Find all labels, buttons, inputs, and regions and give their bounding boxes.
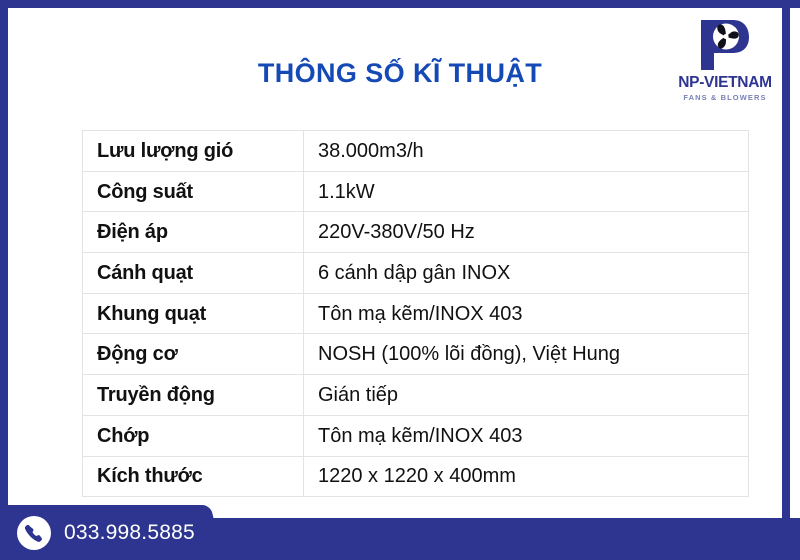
brand-name: NP-VIETNAM [673,75,777,91]
table-row: Khung quạt Tôn mạ kẽm/INOX 403 [83,293,749,334]
brand-logo: NP-VIETNAM FANS & BLOWERS [673,18,777,106]
spec-value: 220V-380V/50 Hz [304,212,749,253]
fan-in-p-letter-icon [699,18,751,72]
frame-border-top [0,0,800,8]
spec-label: Công suất [83,171,304,212]
table-row: Công suất 1.1kW [83,171,749,212]
contact-phone-bar[interactable]: 033.998.5885 [0,505,212,560]
spec-value: Gián tiếp [304,375,749,416]
spec-value: 1220 x 1220 x 400mm [304,456,749,497]
table-row: Truyền động Gián tiếp [83,375,749,416]
spec-value: NOSH (100% lõi đồng), Việt Hung [304,334,749,375]
spec-label: Chớp [83,415,304,456]
phone-handset-icon [17,516,51,550]
table-row: Động cơ NOSH (100% lõi đồng), Việt Hung [83,334,749,375]
spec-value: 6 cánh dập gân INOX [304,253,749,294]
spec-label: Khung quạt [83,293,304,334]
spec-label: Truyền động [83,375,304,416]
brand-tagline: FANS & BLOWERS [673,92,777,103]
table-row: Điện áp 220V-380V/50 Hz [83,212,749,253]
phone-number-text: 033.998.5885 [64,521,195,545]
spec-label: Kích thước [83,456,304,497]
spec-label: Điện áp [83,212,304,253]
spec-value: Tôn mạ kẽm/INOX 403 [304,415,749,456]
table-row: Chớp Tôn mạ kẽm/INOX 403 [83,415,749,456]
table-row: Cánh quạt 6 cánh dập gân INOX [83,253,749,294]
spec-value: Tôn mạ kẽm/INOX 403 [304,293,749,334]
specifications-table: Lưu lượng gió 38.000m3/h Công suất 1.1kW… [82,130,749,497]
spec-value: 38.000m3/h [304,131,749,172]
slide-canvas: THÔNG SỐ KĨ THUẬT NP-VIETNAM FANS & BLOW… [0,0,800,560]
spec-value: 1.1kW [304,171,749,212]
spec-label: Cánh quạt [83,253,304,294]
spec-label: Lưu lượng gió [83,131,304,172]
spec-label: Động cơ [83,334,304,375]
table-row: Kích thước 1220 x 1220 x 400mm [83,456,749,497]
table-row: Lưu lượng gió 38.000m3/h [83,131,749,172]
